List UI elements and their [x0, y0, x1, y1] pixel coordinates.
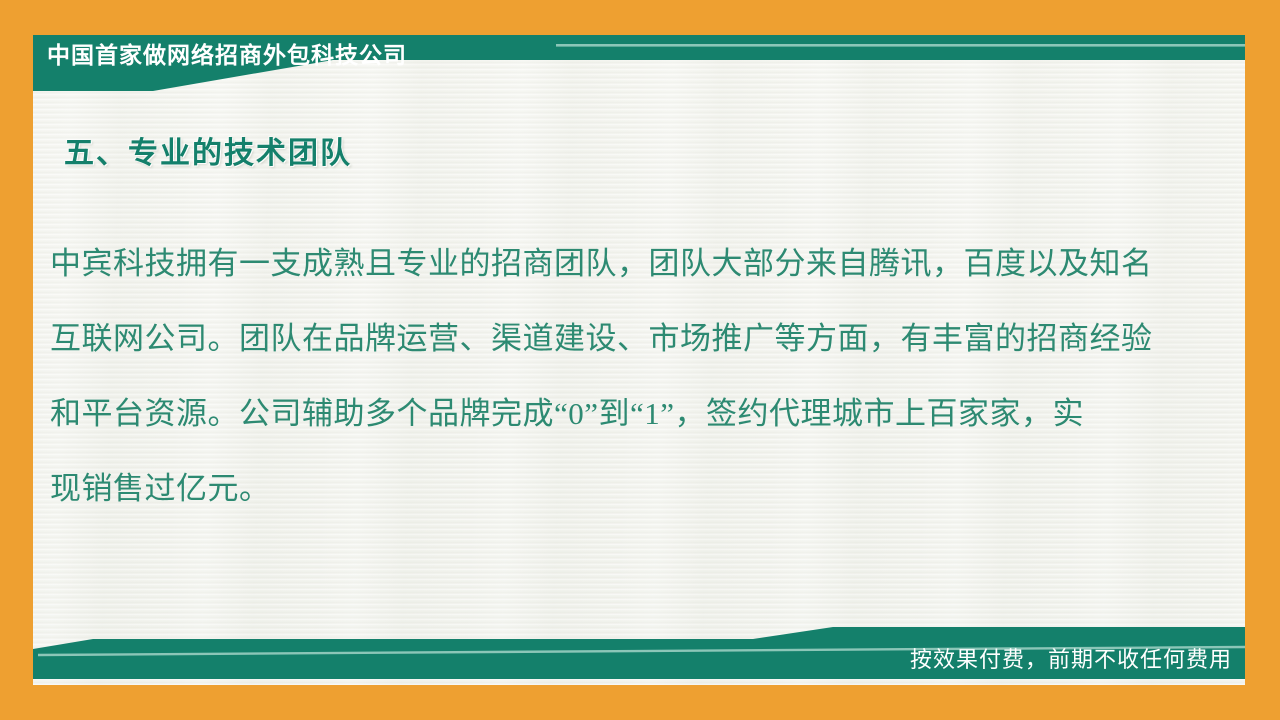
- paragraph-line: 现销售过亿元。: [50, 451, 1185, 526]
- paragraph-line: 和平台资源。公司辅助多个品牌完成“0”到“1”，签约代理城市上百家家，实: [50, 376, 1185, 451]
- paragraph-line: 中宾科技拥有一支成熟且专业的招商团队，团队大部分来自腾讯，百度以及知名: [50, 226, 1185, 301]
- body-paragraph: 中宾科技拥有一支成熟且专业的招商团队，团队大部分来自腾讯，百度以及知名 互联网公…: [50, 226, 1185, 526]
- header-title: 中国首家做网络招商外包科技公司: [47, 38, 407, 72]
- paragraph-line: 互联网公司。团队在品牌运营、渠道建设、市场推广等方面，有丰富的招商经验: [50, 301, 1185, 376]
- footer-tagline: 按效果付费，前期不收任何费用: [910, 645, 1232, 675]
- section-heading: 五、专业的技术团队: [64, 133, 352, 175]
- slide: 中国首家做网络招商外包科技公司 五、专业的技术团队 中宾科技拥有一支成熟且专业的…: [0, 0, 1280, 720]
